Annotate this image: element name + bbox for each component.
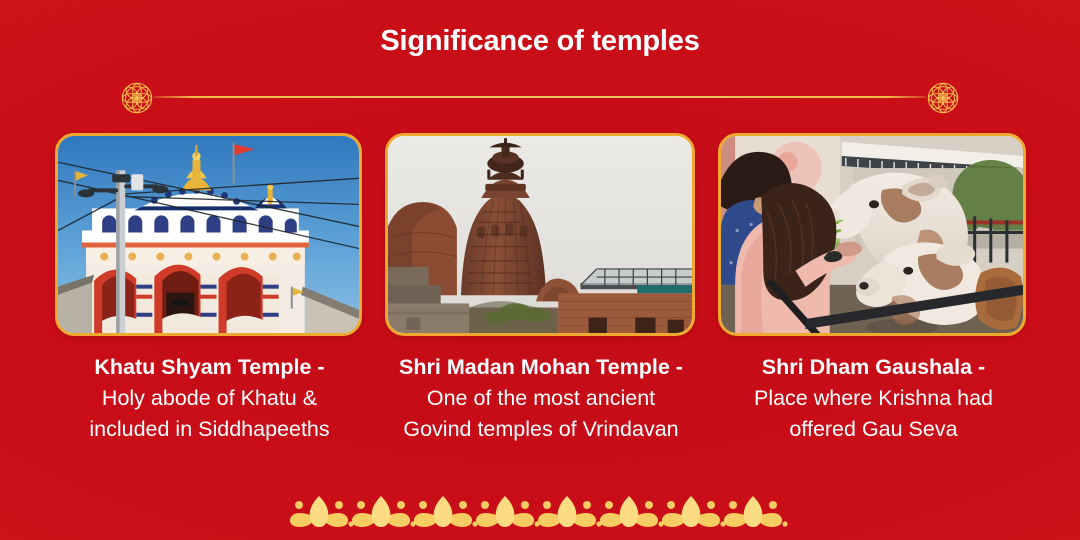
temple-photo-madan-mohan <box>388 136 692 333</box>
page-title: Significance of temples <box>0 24 1080 59</box>
caption-line-2: One of the most ancient <box>370 383 712 414</box>
decorative-divider <box>118 78 962 116</box>
caption-line-2: Place where Krishna had <box>706 383 1041 414</box>
lotus-petal-icon <box>290 496 354 527</box>
caption-line-title: Shri Dham Gaushala - <box>706 352 1041 383</box>
lotus-petal-icon <box>600 496 664 527</box>
caption-line-title: Shri Madan Mohan Temple - <box>370 352 712 383</box>
photo-card-shri-dham-gaushala[interactable] <box>718 133 1026 336</box>
mandala-rosette-icon <box>118 79 156 117</box>
mandala-rosette-icon <box>924 79 962 117</box>
gaushala-photo <box>721 136 1023 333</box>
lotus-petal-icon <box>352 496 416 527</box>
lotus-petal-icon <box>538 496 602 527</box>
photo-card-shri-madan-mohan-temple[interactable] <box>385 133 695 336</box>
slide-root: Significance of temples <box>0 0 1080 540</box>
caption-row: Khatu Shyam Temple - Holy abode of Khatu… <box>0 352 1080 470</box>
bottom-ornament-band <box>0 490 1080 530</box>
photo-card-row <box>0 133 1080 338</box>
photo-card-khatu-shyam-temple[interactable] <box>55 133 362 336</box>
caption-line-3: Govind temples of Vrindavan <box>370 414 712 445</box>
lotus-petal-icon <box>414 496 478 527</box>
caption-khatu-shyam-temple: Khatu Shyam Temple - Holy abode of Khatu… <box>42 352 377 445</box>
caption-line-3: offered Gau Seva <box>706 414 1041 445</box>
lotus-petal-icon <box>476 496 540 527</box>
divider-rule <box>154 96 926 98</box>
caption-shri-dham-gaushala: Shri Dham Gaushala - Place where Krishna… <box>706 352 1041 445</box>
caption-line-title: Khatu Shyam Temple - <box>42 352 377 383</box>
lotus-petal-icon <box>662 496 726 527</box>
caption-line-2: Holy abode of Khatu & <box>42 383 377 414</box>
lotus-petal-icon <box>724 496 788 527</box>
temple-photo-khatu-shyam <box>58 136 359 333</box>
caption-shri-madan-mohan-temple: Shri Madan Mohan Temple - One of the mos… <box>370 352 712 445</box>
caption-line-3: included in Siddhapeeths <box>42 414 377 445</box>
